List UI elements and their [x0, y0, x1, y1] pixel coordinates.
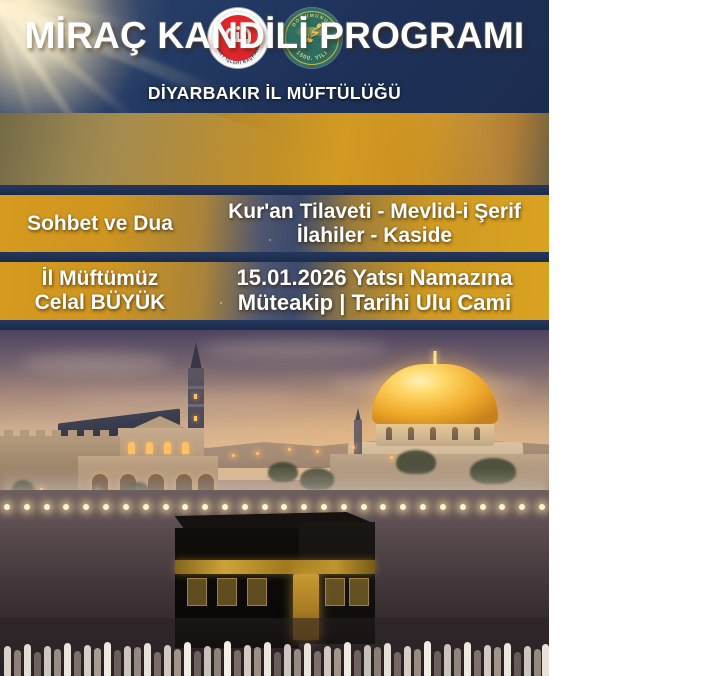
lamp-row: [0, 504, 549, 510]
band1-left-label: Sohbet ve Dua: [0, 212, 200, 236]
masjid-al-haram: [0, 490, 549, 676]
band2-left-line2: Celal BÜYÜK: [0, 291, 200, 315]
kiswa-gold-band: [175, 560, 375, 574]
band1-right-content: Kur'an Tilaveti - Mevlid-i Şerif İlahile…: [200, 200, 549, 247]
poster-photo: [0, 330, 549, 676]
band2-left-content: İl Müftümüz Celal BÜYÜK: [0, 267, 200, 314]
divider: [0, 252, 549, 262]
page-margin: [549, 0, 702, 676]
page-title: MİRAÇ KANDİLİ PROGRAMI: [0, 0, 549, 72]
band2-left-line1: İl Müftümüz: [0, 267, 200, 291]
organization-name: DİYARBAKIR İL MÜFTÜLÜĞÜ: [0, 83, 549, 104]
program-band-1: Sohbet ve Dua Kur'an Tilaveti - Mevlid-i…: [0, 195, 549, 252]
divider: [0, 320, 549, 330]
band2-right-content: 15.01.2026 Yatsı Namazına Müteakip | Tar…: [200, 266, 549, 315]
band1-right-line1: Kur'an Tilaveti - Mevlid-i Şerif: [200, 200, 549, 224]
band2-right-line2: Müteakip | Tarihi Ulu Cami: [200, 291, 549, 316]
poster: DİYANET İŞLERİ BAŞKANLIĞI ﷴ DOĞUMUNUN: [0, 0, 549, 676]
band1-right-line2: İlahiler - Kaside: [200, 224, 549, 248]
divider: [0, 185, 549, 195]
pilgrim-crowd: [0, 618, 549, 676]
band2-right-line1: 15.01.2026 Yatsı Namazına: [200, 266, 549, 291]
program-band-2: İl Müftümüz Celal BÜYÜK 15.01.2026 Yatsı…: [0, 262, 549, 320]
title-band: [0, 113, 549, 185]
